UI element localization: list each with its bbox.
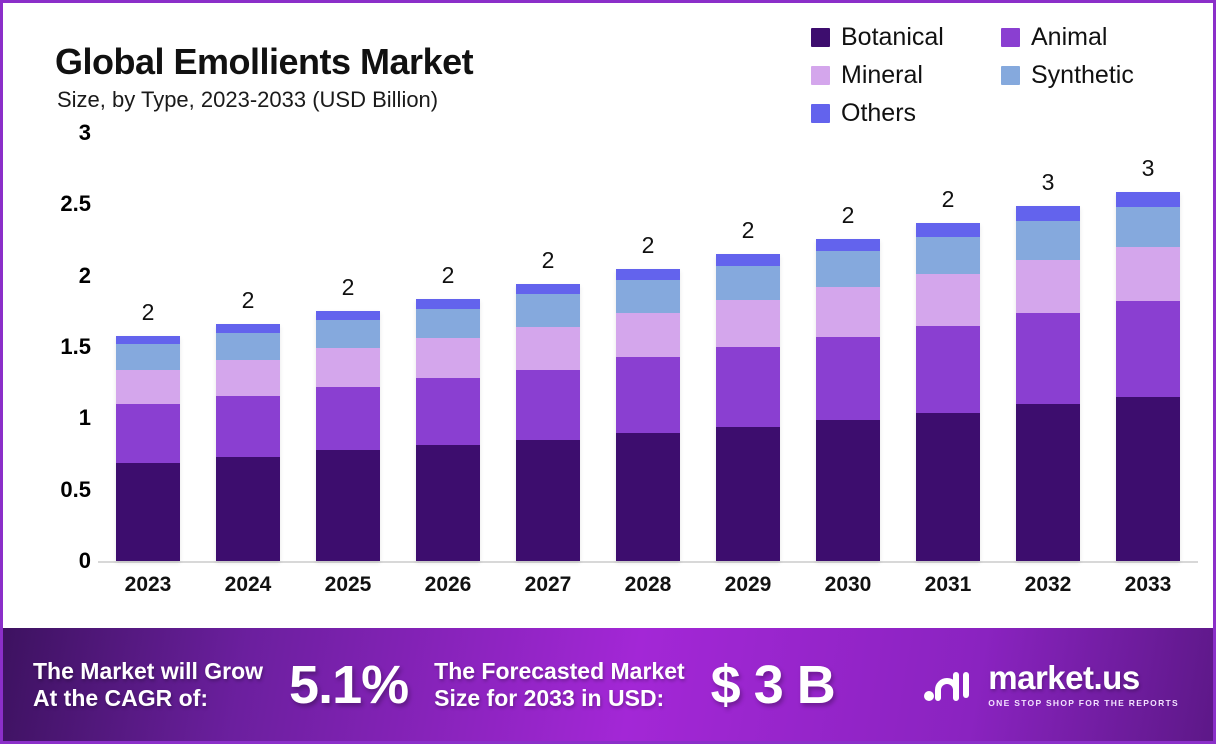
legend-swatch-icon bbox=[811, 104, 830, 123]
brand-tagline: ONE STOP SHOP FOR THE REPORTS bbox=[988, 698, 1179, 708]
bar-segment-synthetic[interactable] bbox=[1016, 221, 1080, 260]
x-axis-label: 2026 bbox=[416, 573, 480, 613]
bar-segment-botanical[interactable] bbox=[216, 457, 280, 561]
bar-stack[interactable] bbox=[116, 336, 180, 561]
cagr-caption-line2: At the CAGR of: bbox=[33, 685, 208, 711]
bar-value-label: 2 bbox=[716, 217, 780, 244]
legend-swatch-icon bbox=[1001, 66, 1020, 85]
legend-item-label: Mineral bbox=[841, 63, 923, 88]
bar-group: 22222222233 bbox=[98, 133, 1198, 561]
x-axis-labels: 2023202420252026202720282029203020312032… bbox=[98, 573, 1198, 613]
bar-segment-animal[interactable] bbox=[616, 357, 680, 433]
market-us-logo-icon bbox=[923, 666, 977, 704]
bar-segment-mineral[interactable] bbox=[216, 360, 280, 396]
bar-stack[interactable] bbox=[616, 269, 680, 561]
legend-item-botanical[interactable]: Botanical bbox=[811, 25, 1001, 50]
cagr-value: 5.1% bbox=[289, 654, 408, 716]
bar-column-2025[interactable]: 2 bbox=[316, 133, 380, 561]
forecast-caption: The Forecasted Market Size for 2033 in U… bbox=[434, 658, 685, 711]
chart-legend: BotanicalAnimalMineralSyntheticOthers bbox=[811, 25, 1191, 139]
legend-item-label: Animal bbox=[1031, 25, 1107, 50]
bar-segment-botanical[interactable] bbox=[1116, 397, 1180, 561]
bar-segment-others[interactable] bbox=[216, 324, 280, 333]
y-axis-tick: 1 bbox=[79, 405, 91, 431]
x-axis-label: 2033 bbox=[1116, 573, 1180, 613]
brand-name: market.us bbox=[988, 661, 1179, 694]
bar-segment-mineral[interactable] bbox=[816, 287, 880, 337]
summary-banner: The Market will Grow At the CAGR of: 5.1… bbox=[3, 628, 1213, 741]
bar-segment-others[interactable] bbox=[516, 284, 580, 294]
bar-value-label: 2 bbox=[816, 202, 880, 229]
x-axis-label: 2029 bbox=[716, 573, 780, 613]
bar-segment-animal[interactable] bbox=[916, 326, 980, 413]
legend-item-label: Others bbox=[841, 101, 916, 126]
legend-item-synthetic[interactable]: Synthetic bbox=[1001, 63, 1191, 88]
legend-item-animal[interactable]: Animal bbox=[1001, 25, 1191, 50]
brand-logo[interactable]: market.us ONE STOP SHOP FOR THE REPORTS bbox=[923, 661, 1179, 708]
bar-segment-animal[interactable] bbox=[816, 337, 880, 420]
x-axis-label: 2030 bbox=[816, 573, 880, 613]
bar-segment-animal[interactable] bbox=[1116, 301, 1180, 397]
legend-swatch-icon bbox=[811, 66, 830, 85]
cagr-caption: The Market will Grow At the CAGR of: bbox=[33, 658, 263, 711]
x-axis-line bbox=[98, 561, 1198, 563]
bar-column-2030[interactable]: 2 bbox=[816, 133, 880, 561]
bar-segment-others[interactable] bbox=[1016, 206, 1080, 222]
bar-column-2029[interactable]: 2 bbox=[716, 133, 780, 561]
bar-segment-synthetic[interactable] bbox=[216, 333, 280, 360]
bar-segment-synthetic[interactable] bbox=[516, 294, 580, 327]
bar-segment-botanical[interactable] bbox=[716, 427, 780, 561]
bar-stack[interactable] bbox=[216, 324, 280, 561]
bar-stack[interactable] bbox=[1016, 206, 1080, 561]
x-axis-label: 2023 bbox=[116, 573, 180, 613]
bar-segment-mineral[interactable] bbox=[316, 348, 380, 387]
bar-value-label: 2 bbox=[916, 186, 980, 213]
bar-column-2024[interactable]: 2 bbox=[216, 133, 280, 561]
bar-segment-mineral[interactable] bbox=[916, 274, 980, 325]
bar-segment-others[interactable] bbox=[616, 269, 680, 280]
infographic-root: Global Emollients Market Size, by Type, … bbox=[0, 0, 1216, 744]
bar-column-2026[interactable]: 2 bbox=[416, 133, 480, 561]
x-axis-label: 2024 bbox=[216, 573, 280, 613]
bar-segment-synthetic[interactable] bbox=[816, 251, 880, 287]
bar-segment-mineral[interactable] bbox=[116, 370, 180, 404]
forecast-caption-line1: The Forecasted Market bbox=[434, 658, 685, 684]
bar-segment-animal[interactable] bbox=[416, 378, 480, 445]
page-title: Global Emollients Market bbox=[55, 41, 473, 83]
legend-item-label: Synthetic bbox=[1031, 63, 1134, 88]
bar-value-label: 2 bbox=[316, 274, 380, 301]
bar-segment-mineral[interactable] bbox=[416, 338, 480, 378]
legend-item-mineral[interactable]: Mineral bbox=[811, 63, 1001, 88]
bar-segment-botanical[interactable] bbox=[1016, 404, 1080, 561]
bar-segment-others[interactable] bbox=[1116, 192, 1180, 208]
bar-segment-animal[interactable] bbox=[716, 347, 780, 427]
plot-area: 00.511.522.53 22222222233 20232024202520… bbox=[3, 133, 1213, 623]
bar-segment-synthetic[interactable] bbox=[716, 266, 780, 300]
bar-segment-animal[interactable] bbox=[116, 404, 180, 462]
bar-segment-mineral[interactable] bbox=[1016, 260, 1080, 313]
brand-text: market.us ONE STOP SHOP FOR THE REPORTS bbox=[988, 661, 1179, 708]
y-axis-tick: 0.5 bbox=[60, 477, 91, 503]
bar-segment-others[interactable] bbox=[716, 254, 780, 265]
y-axis-tick: 2 bbox=[79, 263, 91, 289]
bar-column-2028[interactable]: 2 bbox=[616, 133, 680, 561]
bar-column-2032[interactable]: 3 bbox=[1016, 133, 1080, 561]
x-axis-label: 2031 bbox=[916, 573, 980, 613]
bar-segment-others[interactable] bbox=[316, 311, 380, 320]
x-axis-label: 2032 bbox=[1016, 573, 1080, 613]
y-axis-tick: 3 bbox=[79, 120, 91, 146]
bar-segment-mineral[interactable] bbox=[716, 300, 780, 347]
y-axis-tick: 2.5 bbox=[60, 191, 91, 217]
bar-segment-synthetic[interactable] bbox=[1116, 207, 1180, 247]
bar-segment-synthetic[interactable] bbox=[416, 309, 480, 339]
bar-segment-animal[interactable] bbox=[1016, 313, 1080, 404]
bar-segment-synthetic[interactable] bbox=[616, 280, 680, 313]
bar-segment-botanical[interactable] bbox=[416, 445, 480, 561]
bar-segment-animal[interactable] bbox=[316, 387, 380, 450]
bar-column-2033[interactable]: 3 bbox=[1116, 133, 1180, 561]
bar-stack[interactable] bbox=[416, 299, 480, 562]
bar-column-2027[interactable]: 2 bbox=[516, 133, 580, 561]
forecast-caption-line2: Size for 2033 in USD: bbox=[434, 685, 664, 711]
bar-segment-botanical[interactable] bbox=[516, 440, 580, 561]
bar-value-label: 2 bbox=[616, 232, 680, 259]
page-subtitle: Size, by Type, 2023-2033 (USD Billion) bbox=[57, 87, 438, 113]
bar-segment-others[interactable] bbox=[116, 336, 180, 345]
bar-stack[interactable] bbox=[1116, 192, 1180, 562]
bar-segment-botanical[interactable] bbox=[816, 420, 880, 561]
bar-segment-botanical[interactable] bbox=[616, 433, 680, 561]
cagr-caption-line1: The Market will Grow bbox=[33, 658, 263, 684]
bar-stack[interactable] bbox=[716, 254, 780, 561]
bar-value-label: 2 bbox=[516, 247, 580, 274]
legend-item-others[interactable]: Others bbox=[811, 101, 1001, 126]
bar-value-label: 3 bbox=[1016, 169, 1080, 196]
x-axis-label: 2028 bbox=[616, 573, 680, 613]
bar-segment-botanical[interactable] bbox=[316, 450, 380, 561]
bar-segment-animal[interactable] bbox=[216, 396, 280, 457]
bar-stack[interactable] bbox=[916, 223, 980, 561]
x-axis-label: 2025 bbox=[316, 573, 380, 613]
y-axis-tick: 1.5 bbox=[60, 334, 91, 360]
x-axis-label: 2027 bbox=[516, 573, 580, 613]
bar-segment-synthetic[interactable] bbox=[316, 320, 380, 349]
bar-segment-others[interactable] bbox=[916, 223, 980, 237]
y-axis: 00.511.522.53 bbox=[43, 133, 91, 553]
bar-segment-animal[interactable] bbox=[516, 370, 580, 440]
legend-swatch-icon bbox=[811, 28, 830, 47]
bar-stack[interactable] bbox=[816, 239, 880, 561]
bar-stack[interactable] bbox=[316, 311, 380, 561]
bar-value-label: 3 bbox=[1116, 155, 1180, 182]
bar-segment-botanical[interactable] bbox=[116, 463, 180, 561]
bar-column-2031[interactable]: 2 bbox=[916, 133, 980, 561]
bar-column-2023[interactable]: 2 bbox=[116, 133, 180, 561]
bar-segment-others[interactable] bbox=[816, 239, 880, 252]
bar-segment-others[interactable] bbox=[416, 299, 480, 309]
bar-value-label: 2 bbox=[216, 287, 280, 314]
y-axis-tick: 0 bbox=[79, 548, 91, 574]
bar-segment-synthetic[interactable] bbox=[116, 344, 180, 370]
bar-stack[interactable] bbox=[516, 284, 580, 561]
bar-value-label: 2 bbox=[416, 262, 480, 289]
bar-segment-mineral[interactable] bbox=[616, 313, 680, 357]
bar-segment-synthetic[interactable] bbox=[916, 237, 980, 274]
legend-item-label: Botanical bbox=[841, 25, 944, 50]
bar-segment-botanical[interactable] bbox=[916, 413, 980, 561]
bar-value-label: 2 bbox=[116, 299, 180, 326]
bar-segment-mineral[interactable] bbox=[516, 327, 580, 370]
legend-swatch-icon bbox=[1001, 28, 1020, 47]
bar-segment-mineral[interactable] bbox=[1116, 247, 1180, 301]
forecast-value: $ 3 B bbox=[711, 654, 835, 716]
